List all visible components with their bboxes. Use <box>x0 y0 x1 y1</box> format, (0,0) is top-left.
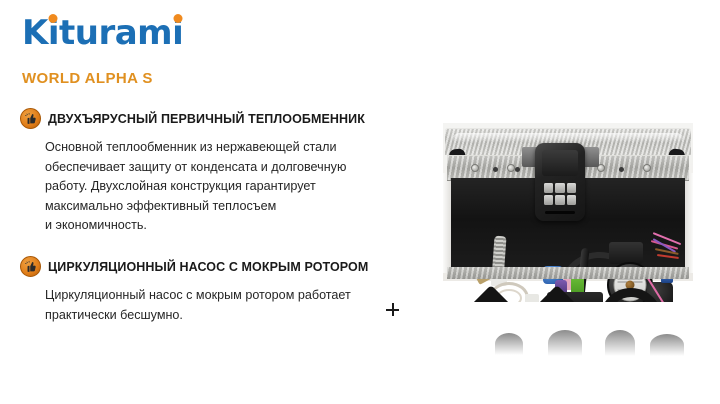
feature-text-line: Основной теплообменник из нержавеющей ст… <box>45 138 440 158</box>
feature-block-heat-exchanger: ДВУХЪЯРУСНЫЙ ПЕРВИЧНЫЙ ТЕПЛООБМЕННИК Осн… <box>20 108 440 236</box>
control-panel-display <box>542 150 578 176</box>
panel-key[interactable] <box>544 195 553 205</box>
rail-screw <box>507 164 515 172</box>
model-name: WORLD ALPHA S <box>22 70 153 87</box>
feature-text-line: максимально эффективный теплосъем <box>45 197 440 217</box>
feature-text-line: Циркуляционный насос с мокрым ротором ра… <box>45 286 440 306</box>
feature-text-line: работу. Двухслойная конструкция гарантир… <box>45 177 440 197</box>
image-artifact-reflection <box>548 330 582 356</box>
feature-heading: ЦИРКУЛЯЦИОННЫЙ НАСОС С МОКРЫМ РОТОРОМ <box>20 256 440 277</box>
pump-terminal-box <box>609 242 643 264</box>
rail-hole <box>619 167 624 172</box>
feature-title: ЦИРКУЛЯЦИОННЫЙ НАСОС С МОКРЫМ РОТОРОМ <box>48 260 368 274</box>
boiler-internals-photo <box>432 106 718 302</box>
feature-heading: ДВУХЪЯРУСНЫЙ ПЕРВИЧНЫЙ ТЕПЛООБМЕННИК <box>20 108 440 129</box>
feature-block-circulation-pump: ЦИРКУЛЯЦИОННЫЙ НАСОС С МОКРЫМ РОТОРОМ Ци… <box>20 256 440 325</box>
bottom-tray <box>447 267 689 279</box>
panel-key[interactable] <box>555 195 564 205</box>
panel-key[interactable] <box>567 195 576 205</box>
logo-text-tura: turam <box>59 13 172 53</box>
feature-text-line: и экономичность. <box>45 216 440 236</box>
feature-text-line: практически бесшумно. <box>45 306 440 326</box>
white-connector-box <box>525 294 539 302</box>
kiturami-logo: Kiturami <box>22 16 183 50</box>
control-panel-keypad[interactable] <box>544 183 576 205</box>
logo-text-k: K <box>22 13 48 53</box>
feature-title: ДВУХЪЯРУСНЫЙ ПЕРВИЧНЫЙ ТЕПЛООБМЕННИК <box>48 112 365 126</box>
logo-letter-i-1: i <box>48 16 59 50</box>
image-artifact-reflection <box>650 334 684 356</box>
rail-hole <box>515 167 520 172</box>
wiring-harness <box>657 254 679 259</box>
panel-bracket-right <box>583 147 599 167</box>
image-artifact-reflection <box>605 330 635 356</box>
feature-description: Циркуляционный насос с мокрым ротором ра… <box>45 286 440 325</box>
image-artifact-reflection <box>495 333 523 355</box>
slide-root: Kiturami WORLD ALPHA S ДВУХЪЯРУСНЫЙ ПЕРВ… <box>0 0 720 404</box>
feature-text-line: обеспечивает защиту от конденсата и долг… <box>45 158 440 178</box>
panel-key[interactable] <box>567 183 576 193</box>
casing-right-edge <box>684 173 693 273</box>
rail-screw <box>643 164 651 172</box>
feature-description: Основной теплообменник из нержавеющей ст… <box>45 138 440 236</box>
thumbs-up-icon <box>20 108 41 129</box>
rail-hole <box>493 167 498 172</box>
panel-key[interactable] <box>555 183 564 193</box>
control-panel[interactable] <box>535 143 585 221</box>
photo-stage <box>443 123 693 281</box>
logo-letter-i-2: i <box>172 16 183 50</box>
panel-key[interactable] <box>544 183 553 193</box>
control-panel-slot <box>545 211 575 214</box>
crosshair-cursor <box>386 303 399 316</box>
thumbs-up-icon <box>20 256 41 277</box>
rail-screw <box>471 164 479 172</box>
